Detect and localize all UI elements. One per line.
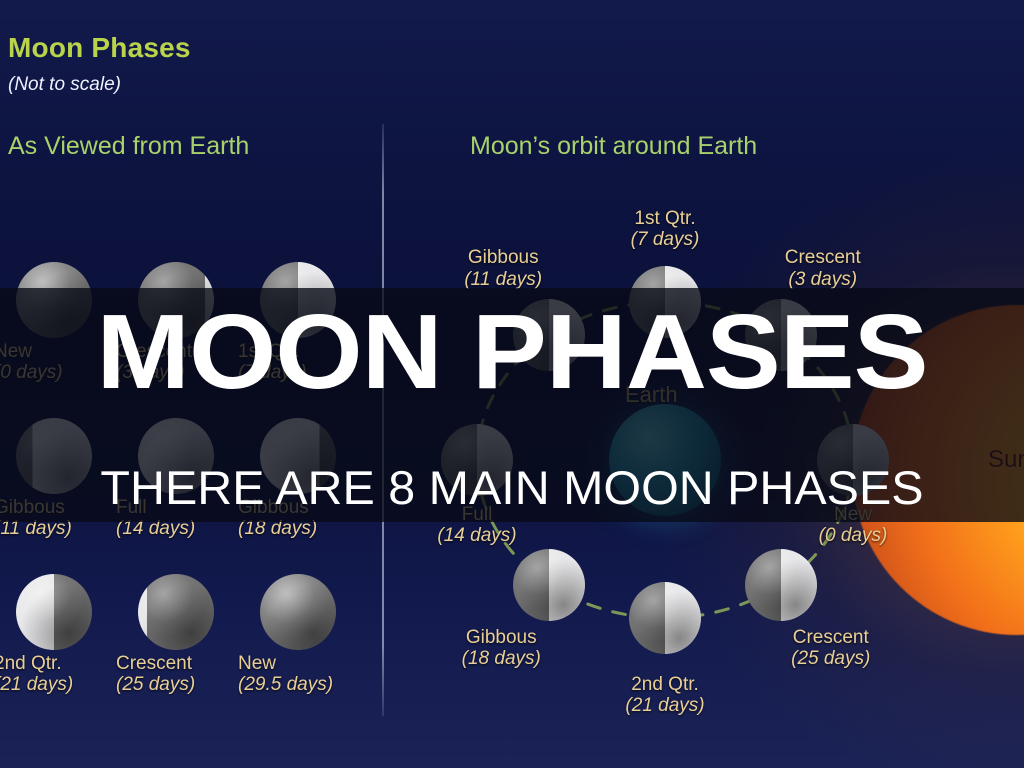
right-panel-title: Moon’s orbit around Earth — [470, 132, 757, 161]
phase-days: (11 days) — [393, 269, 613, 290]
phase-name: 2nd Qtr. — [631, 674, 699, 695]
moon-sphere-crescent-2-1 — [138, 574, 214, 650]
phase-days: (0 days) — [743, 525, 963, 546]
orbit-label-lower-left: Gibbous(18 days) — [391, 627, 611, 670]
moon-shading — [513, 549, 585, 621]
phase-days: (3 days) — [713, 269, 933, 290]
phase-days: (21 days) — [555, 695, 775, 716]
phase-name: 2nd Qtr. — [0, 653, 62, 674]
orbit-moon-lower-left — [513, 549, 585, 621]
orbit-label-upper-right: Crescent(3 days) — [713, 247, 933, 290]
phase-days: (29.5 days) — [238, 674, 438, 695]
moon-shading — [260, 574, 336, 650]
phase-days: (25 days) — [721, 648, 941, 669]
moon-sphere-new-2-2 — [260, 574, 336, 650]
moon-shading — [138, 574, 214, 650]
phase-name: New — [238, 653, 276, 674]
overlay-title: MOON PHASES — [0, 299, 1024, 405]
overlay-subtitle: THERE ARE 8 MAIN MOON PHASES — [0, 464, 1024, 511]
moon-sphere-2nd-qtr-2-0 — [16, 574, 92, 650]
orbit-label-top: 1st Qtr.(7 days) — [555, 208, 775, 251]
phase-name: Crescent — [793, 627, 869, 648]
orbit-label-bottom: 2nd Qtr.(21 days) — [555, 674, 775, 717]
orbit-moon-lower-right — [745, 549, 817, 621]
moon-shading — [745, 549, 817, 621]
phase-days: (18 days) — [391, 648, 611, 669]
orbit-moon-bottom — [629, 582, 701, 654]
orbit-label-lower-right: Crescent(25 days) — [721, 627, 941, 670]
phase-name: Crescent — [116, 653, 192, 674]
orbit-label-upper-left: Gibbous(11 days) — [393, 247, 613, 290]
phase-name: Crescent — [785, 247, 861, 268]
phase-name: Gibbous — [468, 247, 539, 268]
moon-shading — [629, 582, 701, 654]
phase-name: 1st Qtr. — [634, 208, 695, 229]
phase-days: (14 days) — [367, 525, 587, 546]
phase-name: Gibbous — [466, 627, 537, 648]
scale-note: (Not to scale) — [8, 74, 121, 96]
diagram-title: Moon Phases — [8, 32, 191, 64]
slide-canvas: Moon Phases (Not to scale) As Viewed fro… — [0, 0, 1024, 768]
left-panel-title: As Viewed from Earth — [8, 132, 249, 161]
moon-shading — [16, 574, 92, 650]
